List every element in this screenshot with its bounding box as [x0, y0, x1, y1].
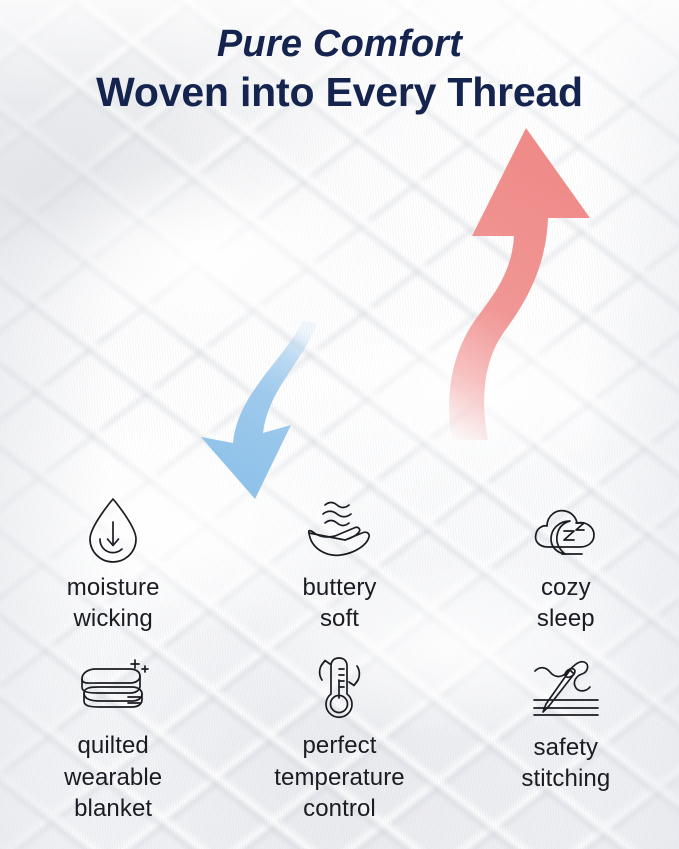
needle-thread-stitch-icon: [524, 654, 608, 724]
feature-label: safety stitching: [521, 732, 610, 794]
feature-moisture-wicking: moisture wicking: [0, 494, 226, 654]
feature-cozy-sleep: cozy sleep: [453, 494, 679, 654]
feature-label: perfect temperature control: [274, 730, 405, 824]
feature-label: cozy sleep: [537, 572, 595, 634]
thermometer-arrows-icon: [301, 654, 377, 722]
headline-line-2: Woven into Every Thread: [0, 66, 679, 118]
feature-quilted-wearable-blanket: quilted wearable blanket: [0, 654, 226, 824]
feature-label: moisture wicking: [67, 572, 160, 634]
feature-grid: moisture wicking buttery soft: [0, 494, 679, 824]
feature-label: buttery soft: [302, 572, 376, 634]
cloud-moon-zzz-icon: [526, 494, 606, 564]
water-drop-down-arrow-icon: [84, 494, 142, 564]
feature-label: quilted wearable blanket: [64, 730, 162, 824]
feature-buttery-soft: buttery soft: [226, 494, 452, 654]
hand-with-waves-icon: [301, 494, 377, 564]
product-infographic: Pure Comfort Woven into Every Thread: [0, 0, 679, 849]
feature-safety-stitching: safety stitching: [453, 654, 679, 824]
headline-line-1: Pure Comfort: [0, 22, 679, 66]
headline-block: Pure Comfort Woven into Every Thread: [0, 22, 679, 119]
feature-temperature-control: perfect temperature control: [226, 654, 452, 824]
folded-blanket-stack-icon: [72, 654, 154, 722]
